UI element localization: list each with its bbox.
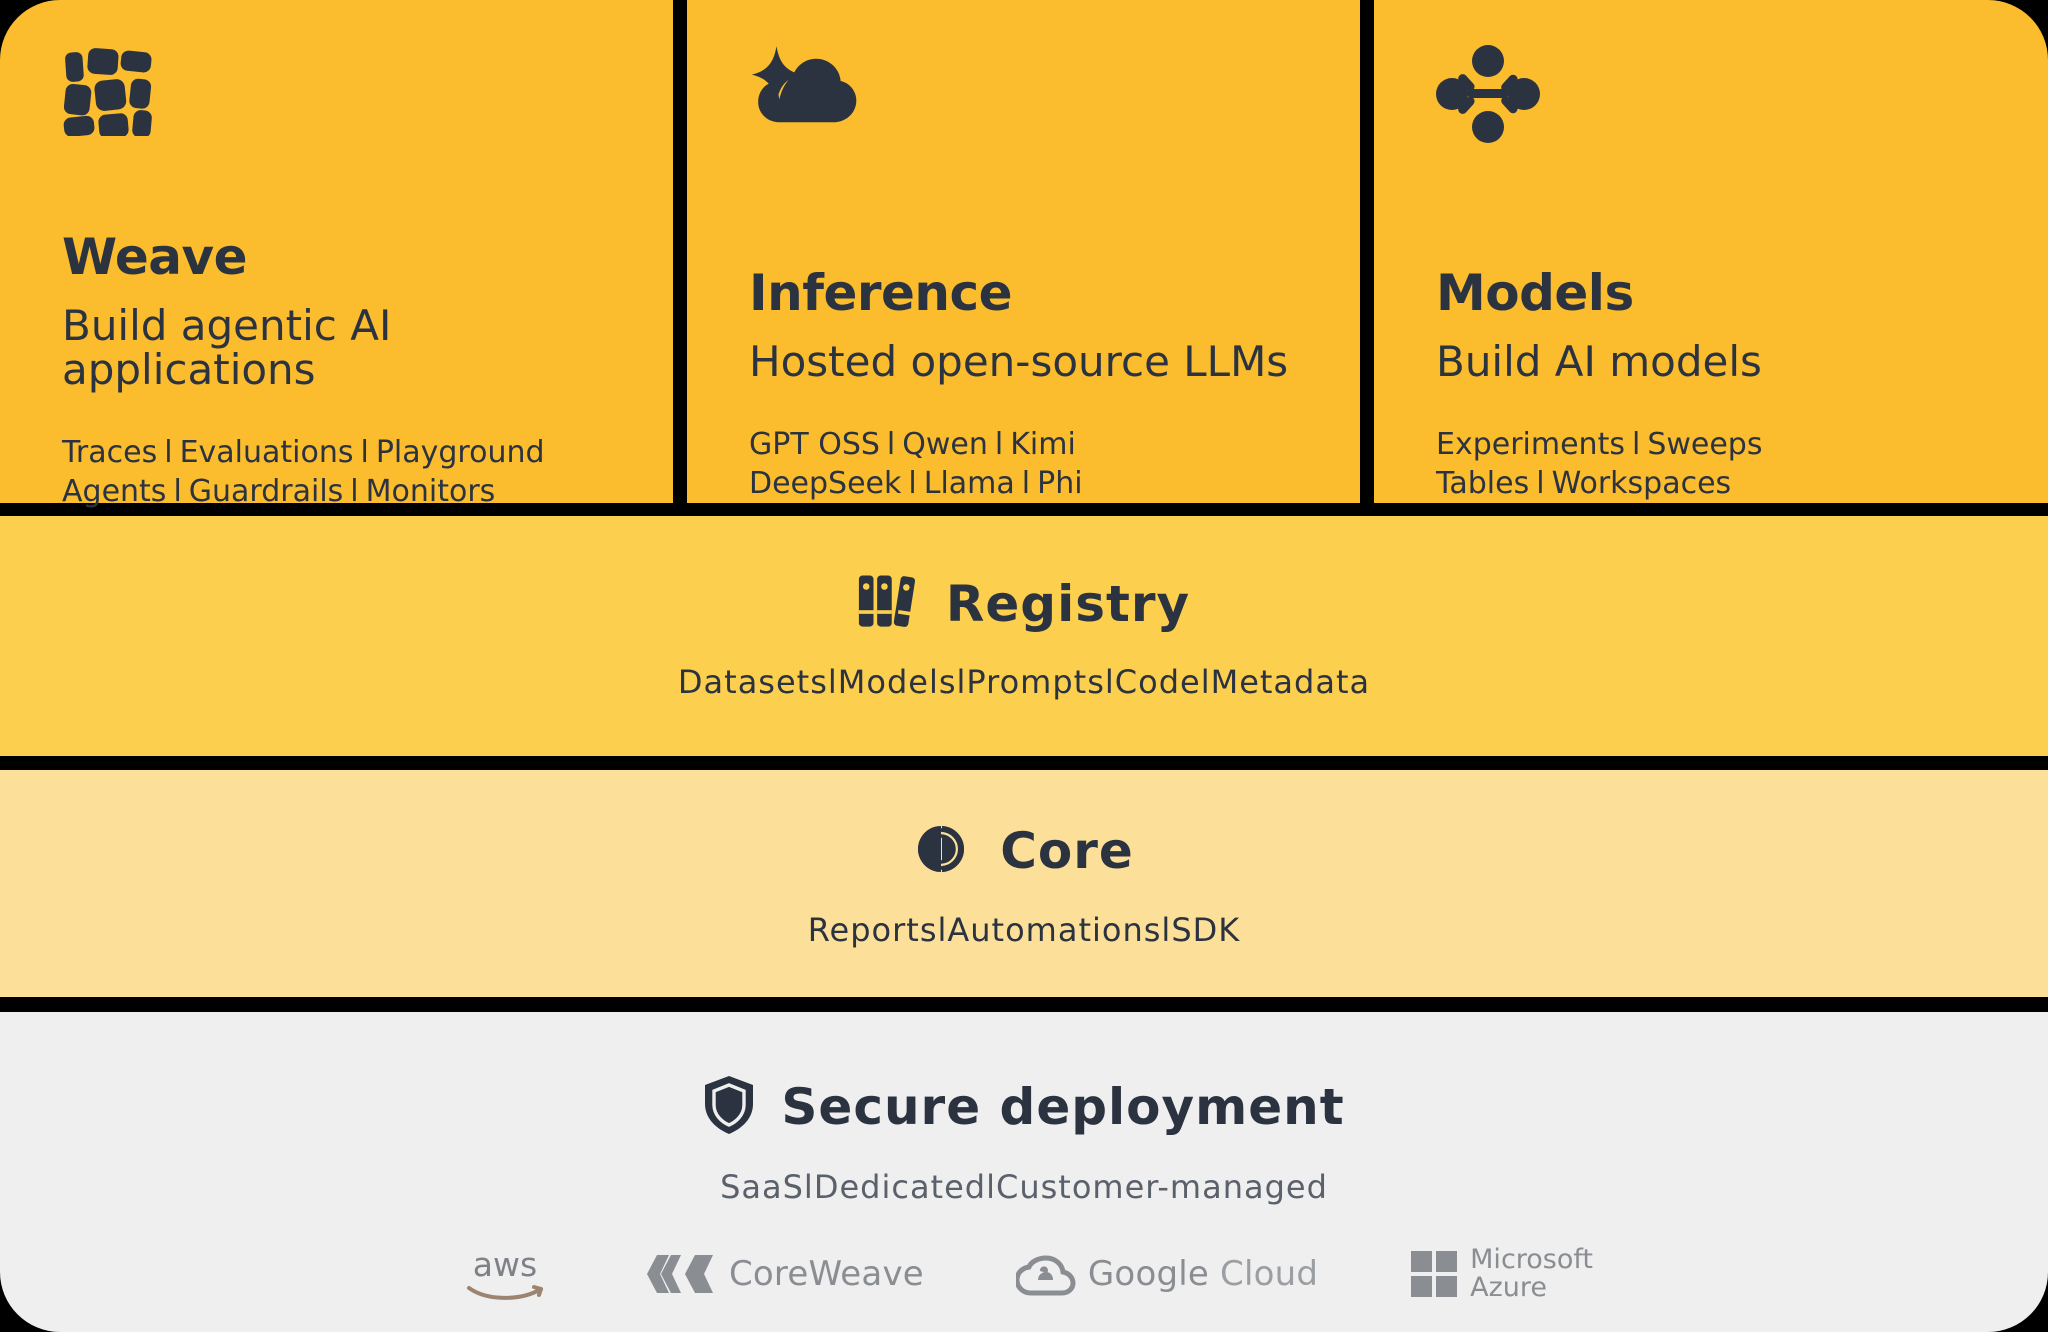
band-core[interactable]: Core ReportslAutomationslSDK (0, 770, 2048, 997)
product-stack-diagram: Weave Build agentic AI applications Trac… (0, 0, 2048, 1332)
core-items: ReportslAutomationslSDK (808, 911, 1241, 949)
feature-line: ExperimentslSweeps (1436, 426, 1988, 464)
product-card-row: Weave Build agentic AI applications Trac… (0, 0, 2048, 503)
azure-wordmark: Azure (1470, 1274, 1593, 1302)
deployment-items: SaaSlDedicatedlCustomer-managed (720, 1168, 1328, 1206)
deployment-title: Secure deployment (781, 1078, 1344, 1136)
card-subtitle: Build agentic AI applications (62, 304, 613, 392)
card-title: Inference (749, 268, 1300, 318)
google-cloud-mark (1016, 1252, 1076, 1296)
registry-title: Registry (946, 575, 1190, 633)
microsoft-squares-icon (1410, 1250, 1458, 1298)
card-weave[interactable]: Weave Build agentic AI applications Trac… (0, 0, 673, 503)
logo-aws: aws (455, 1246, 555, 1302)
card-title: Models (1436, 268, 1988, 318)
cloud-provider-logos: aws CoreWeave (455, 1246, 1593, 1302)
aws-wordmark: aws (473, 1246, 537, 1284)
coreweave-mark (647, 1251, 717, 1297)
feature-line: DeepSeeklLlamalPhi (749, 465, 1300, 503)
weave-grid-icon (62, 44, 613, 136)
microsoft-wordmark: Microsoft (1470, 1246, 1593, 1274)
deployment-header: Secure deployment (703, 1074, 1344, 1140)
core-circle-icon (914, 819, 974, 883)
card-features: ExperimentslSweeps TableslWorkspaces (1436, 426, 1988, 503)
band-secure-deployment[interactable]: Secure deployment SaaSlDedicatedlCustome… (0, 1012, 2048, 1332)
card-title: Weave (62, 232, 613, 282)
network-nodes-icon (1436, 44, 1988, 172)
cloud-wordmark: Cloud (1220, 1254, 1318, 1294)
band-registry[interactable]: Registry DatasetslModelslPromptslCodelMe… (0, 516, 2048, 756)
logo-microsoft-azure: Microsoft Azure (1410, 1246, 1593, 1302)
registry-header: Registry (858, 571, 1190, 637)
card-inference[interactable]: Inference Hosted open-source LLMs GPT OS… (687, 0, 1360, 503)
card-features: TraceslEvaluationslPlayground AgentslGua… (62, 434, 613, 511)
core-title: Core (1000, 822, 1134, 880)
shield-icon (703, 1074, 755, 1140)
logo-coreweave: CoreWeave (647, 1251, 924, 1297)
google-wordmark: Google (1088, 1254, 1209, 1294)
feature-line: GPT OSSlQwenlKimi (749, 426, 1300, 464)
card-models[interactable]: Models Build AI models ExperimentslSweep… (1374, 0, 2048, 503)
logo-google-cloud: Google Cloud (1016, 1252, 1318, 1296)
books-icon (858, 571, 920, 637)
core-header: Core (914, 819, 1134, 883)
coreweave-wordmark: CoreWeave (729, 1254, 924, 1294)
feature-line: TraceslEvaluationslPlayground (62, 434, 613, 472)
card-subtitle: Build AI models (1436, 340, 1988, 384)
registry-items: DatasetslModelslPromptslCodelMetadata (678, 663, 1370, 701)
card-features: GPT OSSlQwenlKimi DeepSeeklLlamalPhi (749, 426, 1300, 503)
cloud-sparkle-icon (749, 44, 1300, 172)
feature-line: AgentslGuardrailslMonitors (62, 473, 613, 511)
card-subtitle: Hosted open-source LLMs (749, 340, 1300, 384)
feature-line: TableslWorkspaces (1436, 465, 1988, 503)
